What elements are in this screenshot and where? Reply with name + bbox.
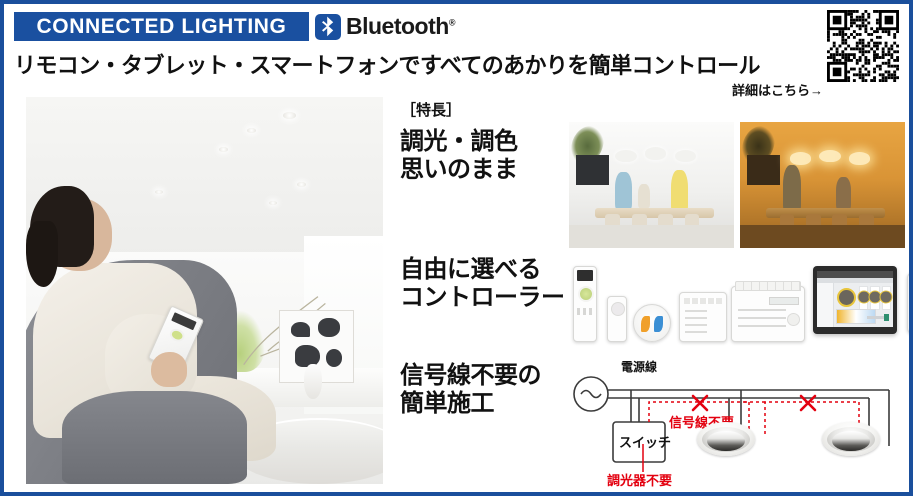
power-line-label: 電源線 — [621, 358, 657, 375]
ceiling-downlight — [155, 190, 163, 194]
hero-photo — [26, 97, 383, 484]
handheld-remote-large — [573, 266, 597, 342]
qr-code-icon[interactable] — [827, 10, 899, 82]
person — [671, 170, 688, 213]
wall-tv — [576, 155, 609, 185]
smartphone-controller — [907, 272, 913, 334]
switch-label: スイッチ — [619, 432, 671, 451]
bluetooth-icon — [315, 14, 341, 40]
vase — [304, 364, 322, 399]
bluetooth-word-text: Bluetooth — [346, 13, 449, 39]
person — [783, 165, 801, 213]
wall-panel-small — [679, 292, 727, 342]
feature-title-controllers: 自由に選べる コントローラー — [400, 256, 565, 312]
no-dimmer-label: 調光器不要 — [607, 470, 672, 489]
poster-body: CONNECTED LIGHTING Bluetooth® リモコン・タブレット… — [4, 4, 909, 492]
lighting-scene-photos — [569, 122, 905, 248]
pendant-lamp — [645, 147, 666, 160]
person-hand — [151, 352, 187, 387]
tablet-controller — [813, 266, 897, 334]
cool-white-dining-scene — [569, 122, 734, 248]
pendant-lamp — [615, 150, 636, 163]
bluetooth-lockup: Bluetooth® — [315, 13, 455, 40]
qr-cta-label: 詳細はこちら→ — [732, 80, 823, 99]
led-downlight — [697, 422, 755, 456]
feature-title-dimming: 調光・調色 思いのまま — [400, 128, 518, 184]
banner-label: CONNECTED LIGHTING — [37, 15, 287, 39]
armchair-seat — [62, 391, 248, 484]
warm-amber-dining-scene — [740, 122, 905, 248]
floor — [740, 225, 905, 248]
wall-tv — [747, 155, 780, 185]
wall-panel-large — [731, 286, 805, 342]
led-downlight — [822, 422, 880, 456]
poster-frame: CONNECTED LIGHTING Bluetooth® リモコン・タブレット… — [0, 0, 913, 496]
feature-tag: ［特長］ — [401, 99, 461, 120]
round-dial-controller — [633, 304, 671, 342]
wiring-diagram: 電源線 スイッチ 信号線不要 調光器不要 — [569, 360, 909, 488]
pendant-lamp — [819, 150, 840, 163]
page-subtitle: リモコン・タブレット・スマートフォンですべてのあかりを簡単コントロール — [14, 48, 760, 80]
pendant-lamp — [790, 152, 811, 165]
child — [638, 184, 650, 208]
pendant-lamp — [675, 150, 696, 163]
connected-lighting-banner: CONNECTED LIGHTING — [14, 12, 309, 41]
controller-lineup-photo — [569, 260, 905, 352]
registered-mark: ® — [449, 17, 455, 27]
feature-title-wiring: 信号線不要の 簡単施工 — [400, 362, 541, 418]
person-hair-back — [26, 221, 58, 287]
pendant-lamp — [849, 152, 870, 165]
handheld-remote-small — [607, 296, 627, 342]
bluetooth-wordmark: Bluetooth® — [346, 13, 455, 40]
child — [836, 177, 851, 210]
person — [615, 172, 632, 210]
floor — [569, 225, 734, 248]
